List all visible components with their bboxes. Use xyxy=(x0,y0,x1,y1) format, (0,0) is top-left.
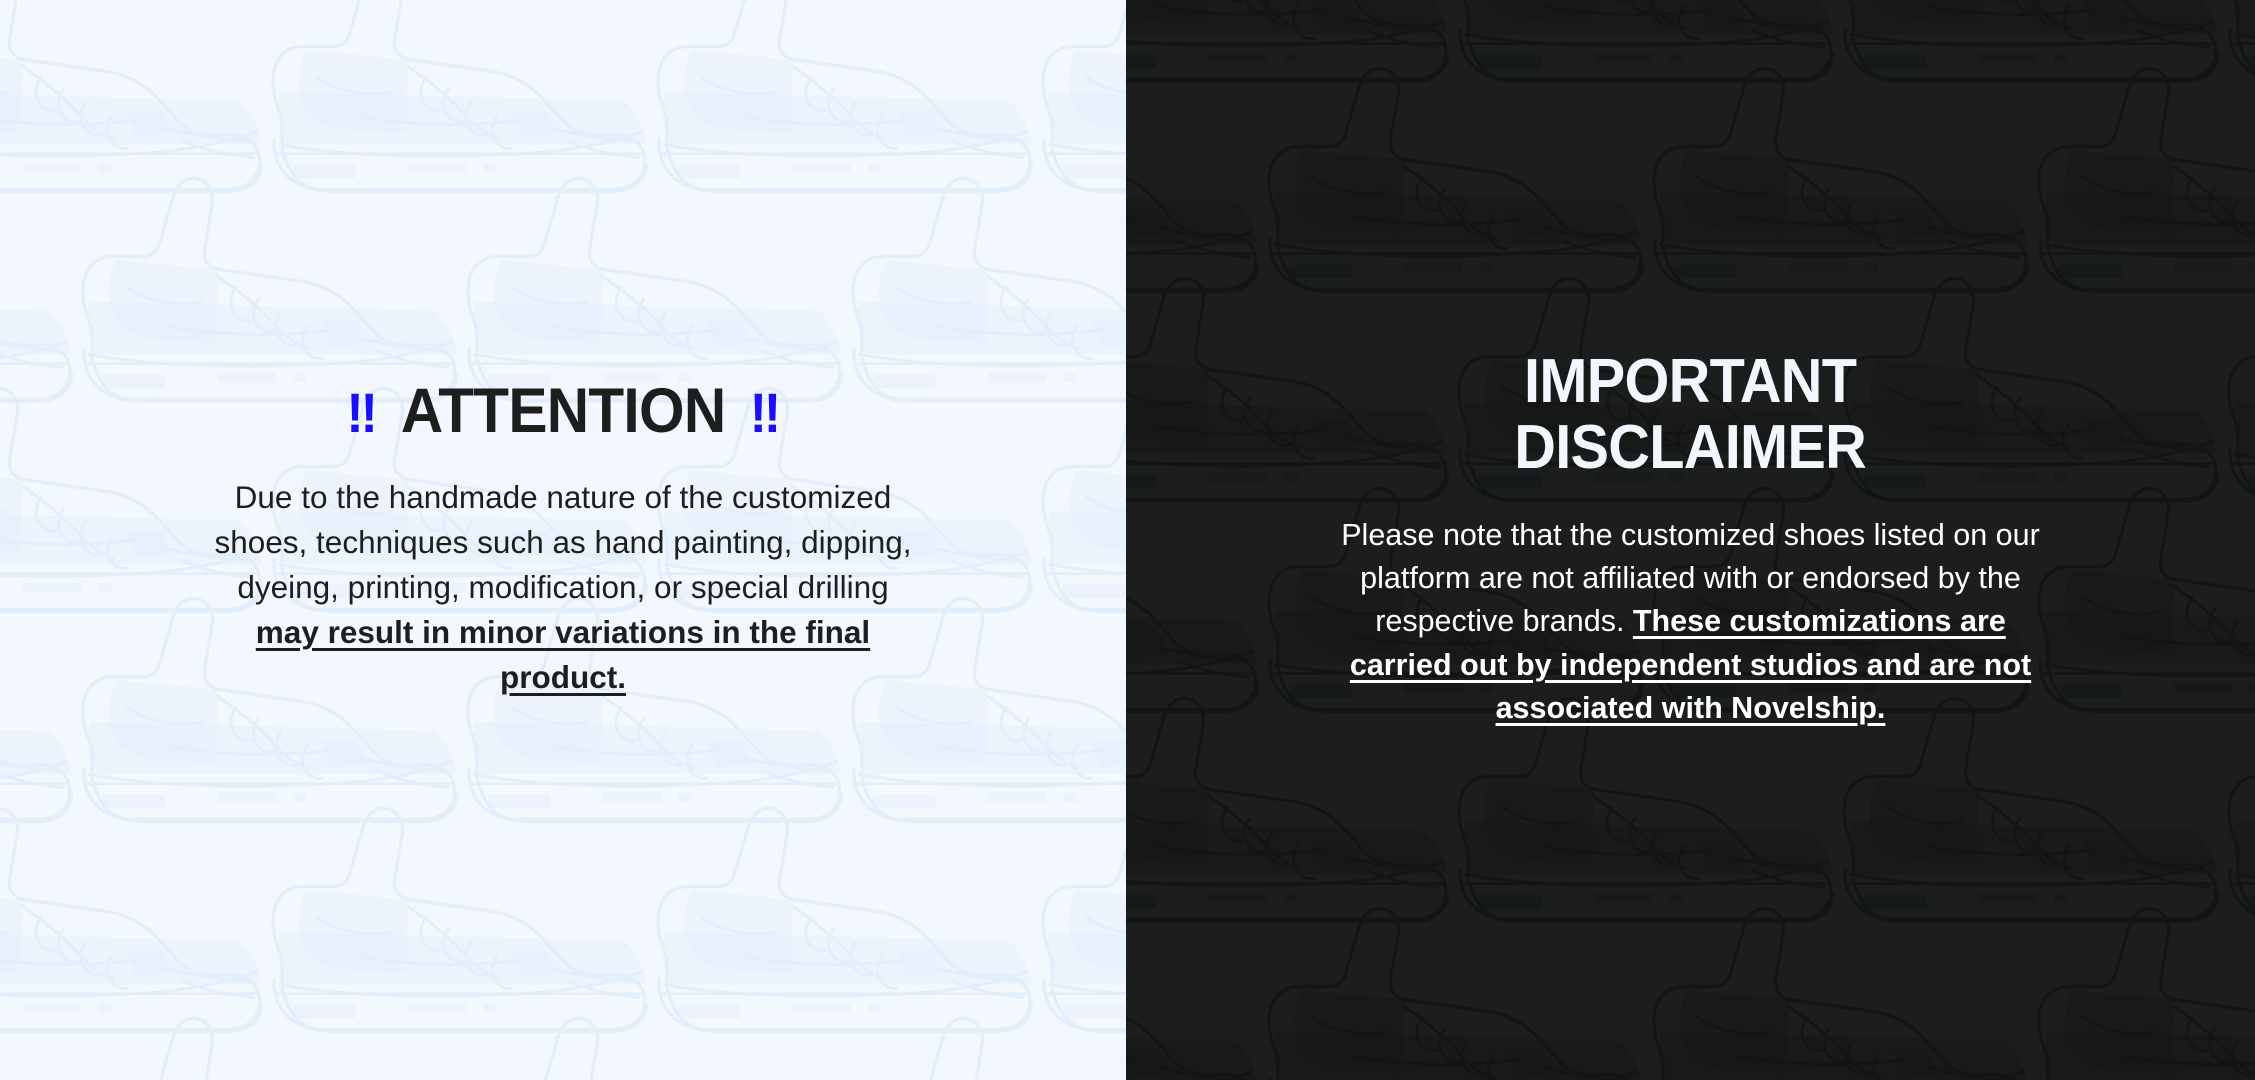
attention-body-lead: Due to the handmade nature of the custom… xyxy=(215,479,912,605)
disclaimer-content: IMPORTANTDISCLAIMER Please note that the… xyxy=(1126,349,2255,731)
disclaimer-heading-line2: DISCLAIMER xyxy=(1515,413,1867,482)
split-layout: ‼ATTENTION‼ Due to the handmade nature o… xyxy=(0,0,2255,1080)
disclaimer-panel: IMPORTANTDISCLAIMER Please note that the… xyxy=(1126,0,2255,1080)
attention-body-emphasis: may result in minor variations in the fi… xyxy=(256,614,870,695)
attention-body: Due to the handmade nature of the custom… xyxy=(205,475,921,699)
double-exclamation-right-icon: ‼ xyxy=(749,381,779,444)
double-exclamation-left-icon: ‼ xyxy=(346,381,376,444)
attention-content: ‼ATTENTION‼ Due to the handmade nature o… xyxy=(0,380,1126,699)
attention-heading-text: ATTENTION xyxy=(401,376,726,446)
disclaimer-heading-line1: IMPORTANT xyxy=(1524,347,1856,416)
attention-panel: ‼ATTENTION‼ Due to the handmade nature o… xyxy=(0,0,1126,1080)
disclaimer-body: Please note that the customized shoes li… xyxy=(1333,514,2049,731)
attention-heading: ‼ATTENTION‼ xyxy=(346,380,780,445)
disclaimer-heading: IMPORTANTDISCLAIMER xyxy=(1515,349,1867,480)
